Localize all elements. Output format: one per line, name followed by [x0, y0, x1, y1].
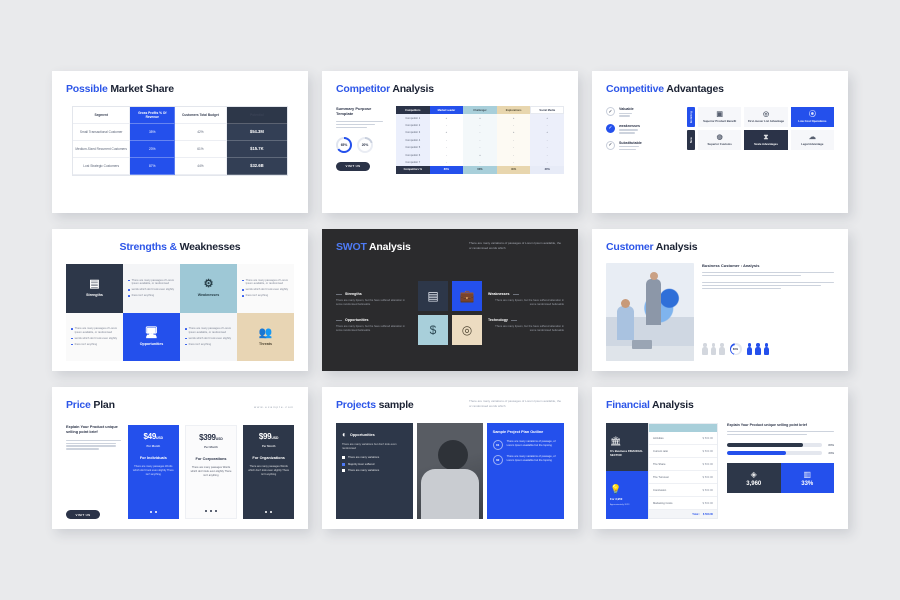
checklist-label: weaknesses [619, 124, 640, 128]
low-cost-icon: ⦿ [809, 111, 816, 118]
quadrant-label: Weaknesses [198, 293, 220, 297]
advantage-label: First-mover List Advantage [748, 120, 784, 123]
table-cell: 42% [175, 124, 227, 141]
slide-note: There are many variations of passages of… [469, 399, 564, 408]
dash-icon [511, 320, 517, 321]
table-cell: - [463, 159, 497, 166]
row-label: Marketing Costs [653, 502, 672, 505]
price-features: There are many passages Words which don'… [132, 465, 175, 477]
table-top-bar [649, 424, 717, 432]
table-header-cell: Customers Total Budget [175, 107, 227, 124]
table-cell: 35% [130, 124, 175, 141]
table-footer-cell: 30% [530, 166, 564, 173]
bullet-text: There are many passages of Lorem Ipsum a… [189, 327, 232, 334]
bullet-text: there isn't anything [246, 294, 268, 298]
quadrant-label: Opportunities [140, 342, 164, 346]
list-item-label: Majority lover suffered [348, 463, 374, 466]
slide-projects-sample[interactable]: Projects sample There are many variation… [322, 387, 578, 529]
price-value: $49 [144, 432, 156, 441]
quadrant-label: Threats [259, 342, 272, 346]
people-icon: 👥 [259, 328, 273, 339]
table-cell: - [430, 122, 464, 129]
table-total-row: Total : $ 500.00 [649, 510, 717, 518]
price-features: There are many passages Words which don'… [190, 466, 233, 478]
total-label: Total : [692, 513, 700, 516]
slide-possible-market-share[interactable]: Possible Market Share Segment Gross Prof… [52, 71, 308, 213]
block-body: There are many lipsum, but the have suff… [336, 325, 412, 333]
right-heading: Explain Your Product unique selling poin… [727, 423, 834, 428]
table-row: The Share$ 500.00 [649, 458, 717, 471]
table-cell: - [497, 159, 531, 166]
donut-value: 20% [359, 139, 372, 152]
table-cell: 23% [130, 141, 175, 158]
table-cell: - [430, 159, 464, 166]
person-icon [702, 343, 708, 355]
title-rest: Market Share [110, 83, 174, 95]
bullet-text: There are many passages of Lorem Ipsum a… [132, 279, 175, 286]
numbered-item: 01 There are many variations of passage,… [493, 440, 558, 450]
progress-bar-row: 33% [727, 451, 834, 455]
block-body: There are many lipsum, but the have suff… [488, 325, 564, 333]
row-label: Activities [653, 437, 664, 440]
table-cell: + [530, 129, 564, 136]
price-amount: $399USD [199, 433, 223, 442]
table-cell: - [430, 144, 464, 151]
price-card-individuals[interactable]: $49USD Per Month For Individuals There a… [128, 425, 179, 519]
table-cell: + [497, 114, 531, 121]
slide-competitive-advantages[interactable]: Competitive Advantages ✓ Valuable ✓ weak… [592, 71, 848, 213]
list-item: There are many variations [342, 456, 407, 459]
title-accent: Customer [606, 241, 653, 253]
quadrant-strengths[interactable]: ▤ Strengths [66, 264, 123, 313]
block-label: Weaknesses [488, 292, 510, 296]
layers-icon: ◈ [751, 470, 757, 479]
price-currency: USD [271, 436, 278, 440]
row-label: Current ratio [653, 450, 668, 453]
table-cell: - [463, 137, 497, 144]
advantage-cell[interactable]: ⦿ Low Cost Operations [791, 107, 834, 127]
person-icon [747, 343, 753, 355]
stat-value: 33% [801, 481, 813, 487]
table-cell: 44% [175, 158, 227, 175]
list-icon-tile[interactable]: ▤ [418, 281, 448, 311]
row-value: $ 500.00 [703, 450, 713, 453]
title-accent: Strengths & [120, 241, 177, 253]
price-audience: For Individuals [140, 456, 167, 460]
table-header-cell: Gross Profits % Of Revenue [130, 107, 175, 124]
visit-us-button[interactable]: VISIT US [336, 162, 370, 171]
bullet-text: words which don't look even slightly [75, 337, 118, 341]
target-icon-tile[interactable]: ◎ [452, 315, 482, 345]
bullet-text: words which don't look even slightly [189, 337, 232, 341]
title-rest: sample [379, 399, 414, 411]
advantage-label: Superior Customs [708, 143, 732, 146]
table-cell: Competitor 6 [396, 151, 430, 158]
table-cell: 87% [130, 158, 175, 175]
gear-icon: ⚙ [204, 279, 214, 290]
person-icon [764, 343, 770, 355]
swot-block-weaknesses: Weaknesses There are many lipsum, but th… [488, 292, 564, 307]
gauge-value: 60% [731, 345, 740, 354]
table-cell: 61% [175, 141, 227, 158]
table-cell: + [430, 129, 464, 136]
advantage-cell[interactable]: ◍ Superior Customs [698, 130, 741, 150]
opportunities-card[interactable]: ◐ Opportunities There are many variation… [336, 423, 413, 519]
quadrant-weaknesses[interactable]: ⚙ Weaknesses [180, 264, 237, 313]
page-title: Customer Analysis [606, 241, 834, 253]
page-title: Possible Market Share [66, 83, 294, 95]
price-currency: USD [156, 436, 163, 440]
slide-strengths-weaknesses[interactable]: Strengths & Weaknesses ▤ Strengths There… [52, 229, 308, 371]
placeholder-text [702, 282, 834, 289]
stat-value: 3,960 [746, 481, 761, 487]
bullet-text: words which don't look even slightly [246, 288, 289, 292]
first-mover-icon: ◎ [763, 111, 769, 118]
title-rest: Analysis [369, 241, 411, 253]
number-badge: 01 [493, 440, 503, 450]
slide-swot-analysis[interactable]: SWOT Analysis There are many variations … [322, 229, 578, 371]
checklist-item-substitutable[interactable]: ✓ Substitutable [606, 141, 680, 151]
summary-heading: Summary Purpose Template [336, 106, 388, 117]
price-currency: USD [216, 437, 223, 441]
table-row: Current ratio$ 500.00 [649, 445, 717, 458]
progress-bar-row: 80% [727, 443, 834, 447]
table-row: Marketing Costs$ 500.00 [649, 497, 717, 510]
table-footer-cell: Competitors % [396, 166, 430, 173]
row-value: $ 500.00 [703, 489, 713, 492]
block-label: Strengths [345, 292, 362, 296]
project-plan-card[interactable]: Sample Project Plan Outline 01 There are… [487, 423, 564, 519]
table-cell: $32.6B [227, 158, 287, 175]
table-header-cell: Explorations [497, 106, 531, 114]
weaknesses-bullets: There are many passages of Lorem Ipsum a… [237, 264, 294, 313]
block-label: Opportunities [345, 318, 369, 322]
left-heading: Explain Your Product unique selling poin… [66, 425, 121, 436]
advantage-label: Low Cost Operations [798, 120, 826, 123]
price-card-corporations[interactable]: $399USD Per Month For Corporations There… [185, 425, 238, 519]
rail-label: New [690, 137, 693, 143]
advantage-label: Superior Product Benefit [703, 120, 736, 123]
title-accent: Projects [336, 399, 376, 411]
price-period: Per Month [262, 444, 276, 448]
price-card-organizations[interactable]: $99USD Per Month For Organizations There… [243, 425, 294, 519]
table-cell: Competitor 4 [396, 137, 430, 144]
rail-new: New [687, 130, 695, 150]
progress-track [727, 451, 822, 455]
table-cell: Competitor 2 [396, 122, 430, 129]
check-icon: ✓ [606, 141, 615, 150]
price-period: Per Month [204, 445, 218, 449]
table-cell: - [530, 122, 564, 129]
stat-card-percent[interactable]: ▥ 33% [781, 463, 835, 493]
title-accent: SWOT [336, 241, 367, 253]
financial-table: Activities$ 500.00 Current ratio$ 500.00… [648, 423, 718, 519]
pagination-dots[interactable] [150, 511, 157, 513]
slide-competitor-analysis[interactable]: Competitor Analysis Summary Purpose Temp… [322, 71, 578, 213]
swot-block-opportunities: Opportunities There are many lipsum, but… [336, 318, 412, 333]
table-cell: - [497, 144, 531, 151]
legal-advantage-icon: ☁ [809, 134, 816, 141]
checklist-item-weaknesses[interactable]: ✓ weaknesses [606, 124, 680, 134]
bullet-text: there isn't anything [75, 343, 97, 347]
table-cell: Lost Strategic Customers [73, 158, 130, 175]
table-cell: - [497, 137, 531, 144]
table-header-cell: Segment [73, 107, 130, 124]
panel-heading: It's Business FINANCIAL SECTOR [610, 450, 644, 457]
progress-label: 33% [826, 451, 834, 455]
advantage-cell[interactable]: ⧗ Scale Advantages [744, 130, 787, 150]
block-body: There are many lipsum, but the have suff… [336, 299, 412, 307]
page-title: Competitive Advantages [606, 83, 834, 95]
price-audience: For Corporations [196, 457, 227, 461]
briefcase-icon-tile[interactable]: 💼 [452, 281, 482, 311]
slide-financial-analysis[interactable]: Financial Analysis 🏛 It's Business FINAN… [592, 387, 848, 529]
customer-photo [606, 263, 694, 361]
table-row: The Turnover$ 500.00 [649, 471, 717, 484]
swot-icon-tiles: ▤ 💼 $ ◎ [418, 281, 482, 345]
title-rest: Weaknesses [180, 241, 241, 253]
title-accent: Price [66, 399, 91, 411]
scale-advantages-icon: ⧗ [764, 134, 769, 141]
slide-note: There are many variations of passages of… [469, 241, 564, 250]
donut-chart-2: 20% [357, 137, 373, 153]
list-item-label: There are many variations [348, 456, 379, 459]
placeholder-text [336, 121, 388, 128]
panel-sub: Approximately 2023 [610, 504, 644, 506]
bullet-text: There are many passages of Lorem Ipsum a… [75, 327, 118, 334]
progress-track [727, 443, 822, 447]
person-icon [711, 343, 717, 355]
progress-label: 80% [826, 443, 834, 447]
advantage-cell[interactable]: ☁ Legal Advantage [791, 130, 834, 150]
row-value: $ 500.00 [703, 502, 713, 505]
dash-icon [336, 294, 342, 295]
table-cell: - [497, 151, 531, 158]
progress-fill [727, 451, 786, 455]
table-footer-cell: 60% [463, 166, 497, 173]
table-cell: - [530, 144, 564, 151]
bullet-text: words which don't look even slightly [132, 288, 175, 292]
placeholder-text [702, 272, 834, 276]
quadrant-label: Strengths [86, 293, 103, 297]
project-photo [417, 423, 482, 519]
pagination-dots[interactable] [205, 510, 217, 512]
bullet-text: there isn't anything [132, 294, 154, 298]
table-cell: - [530, 151, 564, 158]
title-rest: Plan [93, 399, 114, 411]
table-cell: - [463, 129, 497, 136]
table-cell: $54.3M [227, 124, 287, 141]
person-icon [755, 343, 761, 355]
table-cell: Small Transactional Customer [73, 124, 130, 141]
placeholder-text [727, 431, 834, 435]
website-url: www.example.com [254, 405, 294, 409]
list-item: Majority lover suffered [342, 463, 407, 466]
section-heading: Business Customer : Analysis [702, 263, 834, 268]
donut-chart-1: 65% [336, 137, 352, 153]
price-period: Per Month [146, 444, 160, 448]
placeholder-text [619, 129, 640, 133]
monitor-icon: 🖥 [145, 328, 159, 339]
table-footer-cell: 80% [430, 166, 464, 173]
person-icon [719, 343, 725, 355]
financial-sector-panel: 🏛 It's Business FINANCIAL SECTOR [606, 423, 648, 471]
table-cell: + [430, 114, 464, 121]
quadrant-opportunities[interactable]: 🖥 Opportunities [123, 313, 180, 362]
list-item-label: There are many variations [348, 469, 379, 472]
table-cell: Medium-Sized Recurrent Customers [73, 141, 130, 158]
table-cell: - [497, 122, 531, 129]
page-title: Strengths & Weaknesses [66, 241, 294, 253]
opportunities-bullets: There are many passages of Lorem Ipsum a… [66, 313, 123, 362]
checklist-label: Valuable [619, 107, 634, 111]
row-label: Conclusion [653, 489, 666, 492]
numbered-item-body: There are many variations of passage, of… [507, 455, 558, 463]
price-value: $399 [199, 433, 216, 442]
rail-label: Existing [690, 111, 693, 123]
competitor-table: Competitors Market Leader Challenger Exp… [396, 106, 564, 174]
table-cell: - [430, 137, 464, 144]
advantage-label: Legal Advantage [801, 143, 823, 146]
block-label: Technology [488, 318, 508, 322]
row-value: $ 500.00 [703, 463, 713, 466]
checklist-label: Substitutable [619, 141, 642, 145]
placeholder-text [66, 440, 121, 450]
title-rest: Analysis [656, 241, 698, 253]
page-title: Projects sample [336, 399, 414, 411]
row-label: The Turnover [653, 476, 669, 479]
table-cell: + [463, 114, 497, 121]
title-accent: Competitor [336, 83, 390, 95]
page-title: SWOT Analysis [336, 241, 411, 253]
title-accent: Financial [606, 399, 650, 411]
title-rest: Advantages [666, 83, 724, 95]
page-title: Price Plan [66, 399, 115, 411]
table-header-cell: Challenger [463, 106, 497, 114]
dash-icon [513, 294, 519, 295]
gauge-chart: 60% [730, 343, 742, 355]
rail-existing: Existing [687, 107, 695, 127]
page-title: Competitor Analysis [336, 83, 564, 95]
title-rest: Analysis [392, 83, 434, 95]
people-chart: 60% [702, 343, 834, 361]
title-accent: Competitive [606, 83, 664, 95]
table-cell: - [463, 144, 497, 151]
slide-customer-analysis[interactable]: Customer Analysis Business Customer : An… [592, 229, 848, 371]
swot-block-technology: Technology There are many lipsum, but th… [488, 318, 564, 333]
threats-bullets: There are many passages of Lorem Ipsum a… [180, 313, 237, 362]
title-rest: Analysis [652, 399, 694, 411]
bullet-text: there isn't anything [189, 343, 211, 347]
table-cell: - [430, 151, 464, 158]
advantage-cell[interactable]: ◎ First-mover List Advantage [744, 107, 787, 127]
strengths-bullets: There are many passages of Lorem Ipsum a… [123, 264, 180, 313]
check-icon: ✓ [606, 124, 615, 133]
quadrant-threats[interactable]: 👥 Threats [237, 313, 294, 362]
price-amount: $49USD [144, 432, 164, 441]
panel-heading: For 3,950 [610, 498, 644, 502]
stats-row: ◈ 3,960 ▥ 33% [727, 463, 834, 493]
pagination-dots[interactable] [265, 511, 272, 513]
summary-panel: Summary Purpose Template 65% 20% VISIT U… [336, 106, 388, 174]
card-heading: Opportunities [350, 433, 375, 437]
table-header-cell: Social Media [530, 106, 564, 114]
price-value: $99 [259, 432, 271, 441]
swot-quadrant-grid: ▤ Strengths There are many passages of L… [66, 264, 294, 361]
numbered-item-body: There are many variations of passage, of… [507, 440, 558, 448]
table-row: Activities$ 500.00 [649, 432, 717, 445]
title-accent: Possible [66, 83, 108, 95]
table-cell: - [463, 122, 497, 129]
progress-fill [727, 443, 803, 447]
swot-block-strengths: Strengths There are many lipsum, but the… [336, 292, 412, 307]
table-cell: + [463, 151, 497, 158]
card-intro: There are many variations but don't look… [342, 443, 407, 451]
table-cell: Competitor 3 [396, 129, 430, 136]
table-header-cell: Competitors [396, 106, 430, 114]
forecast-panel: 💡 For 3,950 Approximately 2023 [606, 471, 648, 519]
donut-value: 65% [338, 139, 351, 152]
table-cell: - [530, 137, 564, 144]
placeholder-text [619, 146, 642, 150]
product-benefit-icon: ▣ [716, 111, 723, 118]
market-share-table: Segment Gross Profits % Of Revenue Custo… [72, 106, 288, 176]
block-body: There are many lipsum, but the have suff… [488, 299, 564, 307]
table-cell: + [497, 129, 531, 136]
row-value: $ 500.00 [703, 476, 713, 479]
dollar-icon-tile[interactable]: $ [418, 315, 448, 345]
table-cell: Competitor 1 [396, 114, 430, 121]
number-badge: 02 [493, 455, 503, 465]
chart-icon: ▥ [803, 470, 811, 479]
table-footer-cell: 40% [497, 166, 531, 173]
card-heading: Sample Project Plan Outline [493, 430, 558, 434]
table-cell: + [530, 114, 564, 121]
row-label: The Share [653, 463, 666, 466]
visit-us-button[interactable]: VISIT US [66, 510, 100, 519]
idea-icon: 💡 [610, 484, 644, 495]
table-row: Conclusion$ 500.00 [649, 484, 717, 497]
slide-price-plan[interactable]: Price Plan www.example.com Explain Your … [52, 387, 308, 529]
progress-bars: 80% 33% [727, 443, 834, 455]
strengths-icon: ▤ [89, 279, 99, 290]
table-cell: Competitor 7 [396, 159, 430, 166]
total-value: $ 500.00 [703, 513, 713, 516]
table-header-cell: Potential [227, 107, 287, 124]
page-title: Financial Analysis [606, 399, 834, 411]
list-item: There are many variations [342, 469, 407, 472]
advantage-label: Scale Advantages [754, 143, 778, 146]
bank-icon: 🏛 [610, 436, 644, 447]
table-cell: Competitor 5 [396, 144, 430, 151]
check-icon: ✓ [606, 107, 615, 116]
price-features: There are many passages Words which don'… [247, 465, 290, 477]
price-audience: For Organizations [252, 456, 285, 460]
advantage-cell[interactable]: ▣ Superior Product Benefit [698, 107, 741, 127]
superior-customs-icon: ◍ [717, 134, 723, 141]
numbered-item: 02 There are many variations of passage,… [493, 455, 558, 465]
table-cell: $15.7K [227, 141, 287, 158]
price-amount: $99USD [259, 432, 279, 441]
placeholder-text [619, 113, 634, 117]
dash-icon [336, 320, 342, 321]
row-value: $ 500.00 [703, 437, 713, 440]
table-cell: - [530, 159, 564, 166]
stat-card-count[interactable]: ◈ 3,960 [727, 463, 781, 493]
checklist-item-valuable[interactable]: ✓ Valuable [606, 107, 680, 117]
slide-deck-grid: Possible Market Share Segment Gross Prof… [0, 0, 900, 600]
bullet-text: There are many passages of Lorem Ipsum a… [246, 279, 289, 286]
